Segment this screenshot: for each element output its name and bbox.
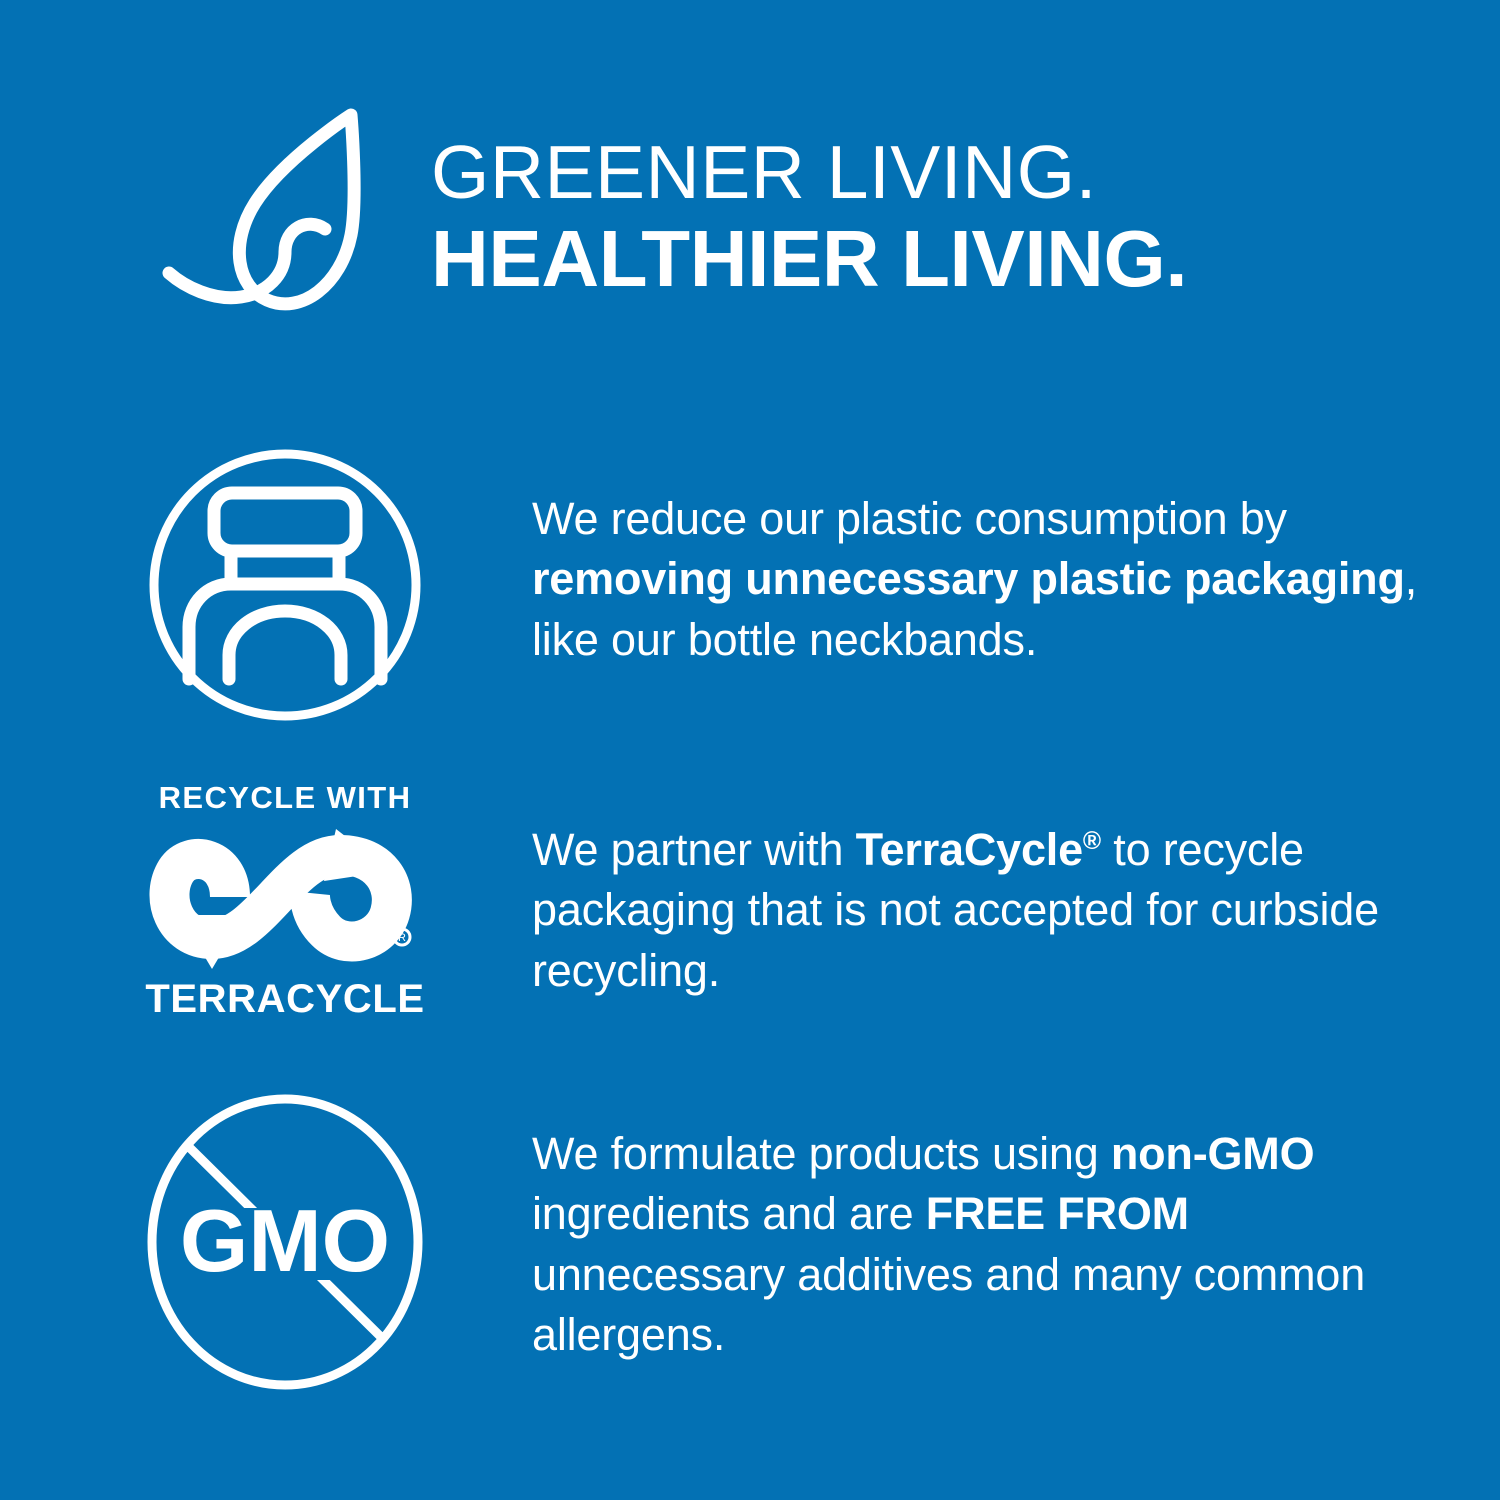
text-segment-bold: non-GMO (1111, 1128, 1315, 1179)
feature-text-terracycle: We partner with TerraCycle® to recycle p… (430, 782, 1440, 1001)
greener-living-infographic: GREENER LIVING. HEALTHIER LIVING. (0, 0, 1500, 1500)
gmo-label: GMO (180, 1191, 390, 1290)
text-segment: We formulate products using (532, 1128, 1111, 1179)
infinity-recycle-arrows-icon: R (140, 819, 430, 975)
headline-healthier-living: HEALTHIER LIVING. (431, 217, 1187, 300)
headline-group: GREENER LIVING. HEALTHIER LIVING. (431, 128, 1187, 300)
text-segment-bold: TerraCycle (856, 824, 1083, 875)
text-segment-bold: removing unnecessary plastic packaging (532, 553, 1405, 604)
feature-text-gmo: We formulate products using non-GMO ingr… (430, 1092, 1440, 1365)
feature-row-terracycle: RECYCLE WITH R (140, 782, 1440, 1019)
feature-text-plastic: We reduce our plastic consumption by rem… (430, 445, 1440, 670)
bottle-neckband-circle-icon (140, 445, 430, 725)
feature-row-plastic: We reduce our plastic consumption by rem… (140, 445, 1440, 725)
terracycle-bottom-label: TERRACYCLE (145, 979, 424, 1019)
text-segment: ingredients and are (532, 1188, 926, 1239)
headline-greener-living: GREENER LIVING. (431, 134, 1187, 211)
header: GREENER LIVING. HEALTHIER LIVING. (155, 104, 1415, 324)
text-segment: We partner with (532, 824, 856, 875)
text-segment: unnecessary additives and many common al… (532, 1249, 1365, 1360)
svg-text:R: R (398, 932, 406, 944)
feature-text-plastic-content: We reduce our plastic consumption by rem… (532, 489, 1440, 670)
feature-text-gmo-content: We formulate products using non-GMO ingr… (532, 1124, 1440, 1365)
registered-mark: ® (1083, 828, 1101, 855)
text-segment: We reduce our plastic consumption by (532, 493, 1287, 544)
feature-row-gmo: GMO We formulate products using non-GMO … (140, 1092, 1440, 1392)
terracycle-logo: RECYCLE WITH R (140, 782, 430, 1019)
no-gmo-icon: GMO (140, 1092, 430, 1392)
terracycle-top-label: RECYCLE WITH (159, 782, 412, 813)
feature-text-terracycle-content: We partner with TerraCycle® to recycle p… (532, 820, 1440, 1001)
text-segment-bold: FREE FROM (926, 1188, 1189, 1239)
leaf-icon (155, 107, 405, 322)
